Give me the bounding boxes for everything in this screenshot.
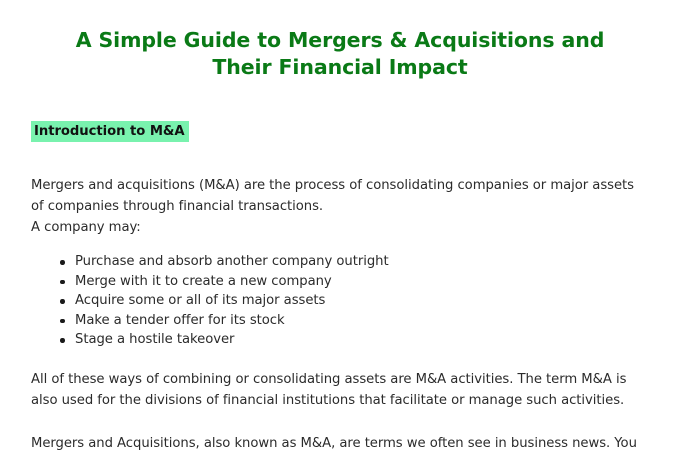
list-item: Make a tender offer for its stock xyxy=(60,311,649,331)
intro-paragraph-line-3: A company may: xyxy=(31,220,141,235)
company-options-list: Purchase and absorb another company outr… xyxy=(31,252,649,350)
paragraph-after-list: All of these ways of combining or consol… xyxy=(31,369,649,411)
list-item: Stage a hostile takeover xyxy=(60,330,649,350)
section-heading-introduction: Introduction to M&A xyxy=(31,121,189,142)
list-item: Merge with it to create a new company xyxy=(60,272,649,292)
section-body: Mergers and acquisitions (M&A) are the p… xyxy=(0,175,680,454)
page-title-line-2: Their Financial Impact xyxy=(212,55,467,79)
page-title-line-1: A Simple Guide to Mergers & Acquisitions… xyxy=(76,28,605,52)
list-item-label: Merge with it to create a new company xyxy=(75,274,332,289)
list-item: Purchase and absorb another company outr… xyxy=(60,252,649,272)
section-heading-container: Introduction to M&A xyxy=(0,120,680,142)
list-item-label: Purchase and absorb another company outr… xyxy=(75,254,389,269)
paragraph-last-visible: Mergers and Acquisitions, also known as … xyxy=(31,433,649,454)
intro-paragraph-line-2: of companies through financial transacti… xyxy=(31,199,323,214)
list-item-label: Acquire some or all of its major assets xyxy=(75,293,325,308)
list-item-label: Make a tender offer for its stock xyxy=(75,313,285,328)
document-page: A Simple Guide to Mergers & Acquisitions… xyxy=(0,0,680,459)
intro-paragraph: Mergers and acquisitions (M&A) are the p… xyxy=(31,175,649,238)
list-item: Acquire some or all of its major assets xyxy=(60,291,649,311)
list-item-label: Stage a hostile takeover xyxy=(75,332,234,347)
page-title: A Simple Guide to Mergers & Acquisitions… xyxy=(0,0,680,81)
intro-paragraph-line-1: Mergers and acquisitions (M&A) are the p… xyxy=(31,178,634,193)
